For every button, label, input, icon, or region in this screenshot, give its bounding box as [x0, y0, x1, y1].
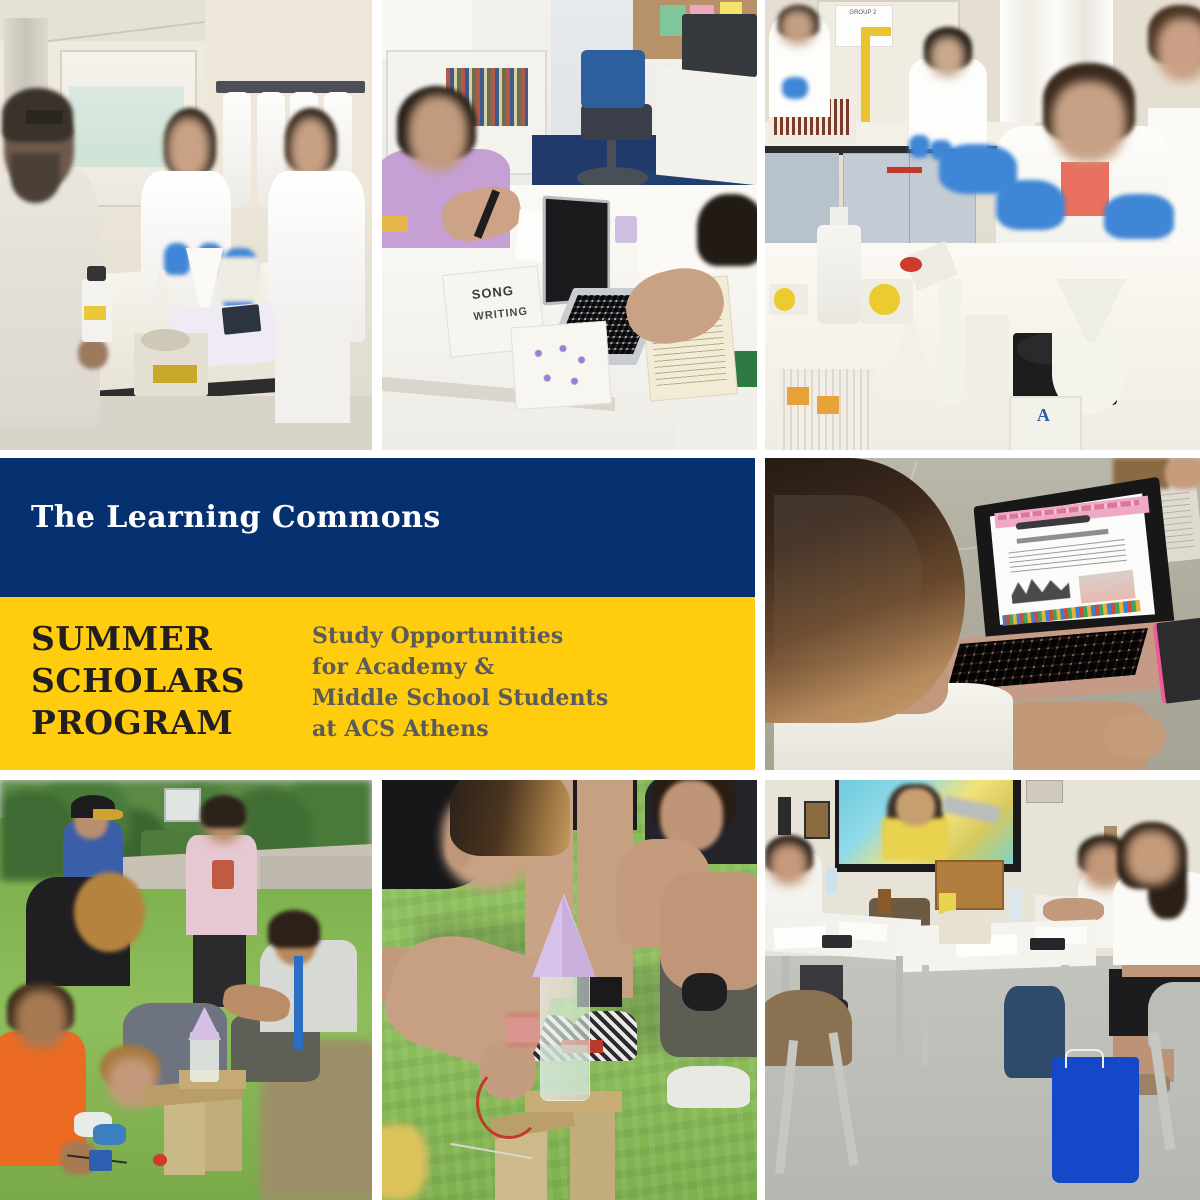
- program-subtitle-line-3: Middle School Students: [312, 683, 608, 714]
- panel-eyebrow: The Learning Commons: [31, 500, 441, 535]
- program-subtitle-line-4: at ACS Athens: [312, 714, 608, 745]
- photo-lab-instructor: [0, 0, 372, 450]
- program-title-line-2: SCHOLARS: [31, 660, 245, 702]
- program-title: SUMMER SCHOLARS PROGRAM: [31, 618, 245, 744]
- photo-collage: SONG WRITING GROUP 2: [0, 0, 1200, 1200]
- beaker-label-a: A: [1026, 405, 1061, 426]
- photo-chemistry-gloves: GROUP 2: [765, 0, 1200, 450]
- text-panel: The Learning Commons SUMMER SCHOLARS PRO…: [0, 458, 755, 770]
- panel-yellow-band: SUMMER SCHOLARS PROGRAM Study Opportunit…: [0, 597, 755, 770]
- program-title-line-3: PROGRAM: [31, 702, 245, 744]
- program-subtitle-line-2: for Academy &: [312, 652, 608, 683]
- photo-rocket-closeup: [382, 780, 757, 1200]
- photo-songwriting-desk: SONG WRITING: [382, 0, 757, 450]
- program-title-line-1: SUMMER: [31, 618, 245, 660]
- photo-rocket-group: [0, 780, 372, 1200]
- program-subtitle-line-1: Study Opportunities: [312, 621, 608, 652]
- panel-navy-band: The Learning Commons: [0, 458, 755, 597]
- program-subtitle: Study Opportunities for Academy & Middle…: [312, 621, 608, 745]
- photo-classroom-projector: [765, 780, 1200, 1200]
- group-sign-label: GROUP 2: [839, 10, 887, 16]
- photo-laptop-presentation: [765, 458, 1200, 770]
